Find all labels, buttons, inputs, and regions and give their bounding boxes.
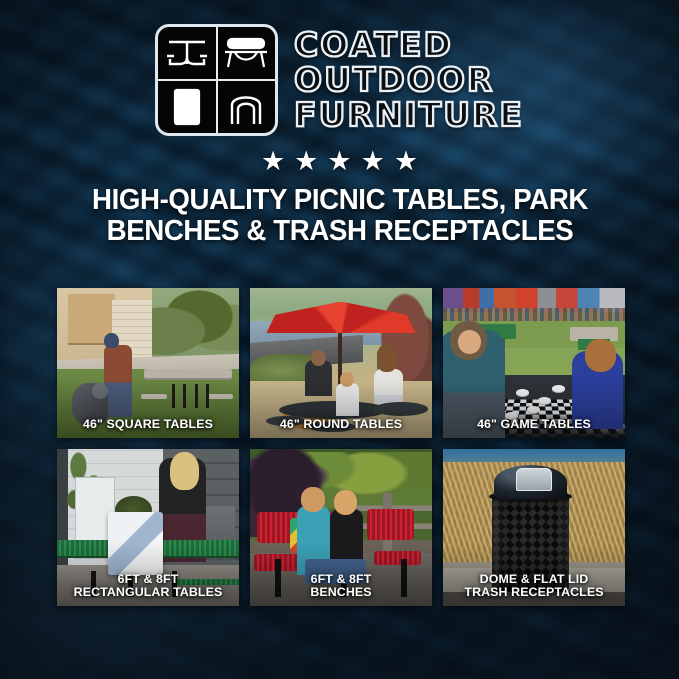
product-grid: 46" SQUARE TABLES 46" ROUND TABLES bbox=[57, 288, 625, 606]
product-tile-label: 46" SQUARE TABLES bbox=[61, 418, 235, 432]
brand-word-coated: COATED bbox=[294, 28, 524, 62]
product-label-line-2: TRASH RECEPTACLES bbox=[447, 586, 621, 600]
star-icon-3: ★ bbox=[327, 148, 351, 175]
product-label-line-1: 46" SQUARE TABLES bbox=[83, 417, 213, 431]
product-tile-game-tables[interactable]: 46" GAME TABLES bbox=[443, 288, 625, 438]
product-tile-square-tables[interactable]: 46" SQUARE TABLES bbox=[57, 288, 239, 438]
bike-rack-icon bbox=[217, 80, 276, 133]
brand-logo-mark bbox=[155, 24, 278, 136]
brand-logo: COATED OUTDOOR FURNITURE bbox=[0, 0, 679, 136]
product-tile-label: 46" ROUND TABLES bbox=[254, 418, 428, 432]
promo-banner: COATED OUTDOOR FURNITURE ★ ★ ★ ★ ★ HIGH-… bbox=[0, 0, 679, 679]
star-rating: ★ ★ ★ ★ ★ bbox=[0, 148, 679, 175]
product-label-line-1: 46" ROUND TABLES bbox=[280, 417, 402, 431]
product-label-line-1: 46" GAME TABLES bbox=[477, 417, 591, 431]
product-tile-label: 46" GAME TABLES bbox=[447, 418, 621, 432]
trash-receptacle-icon bbox=[158, 80, 217, 133]
product-tile-rectangular-tables[interactable]: 6FT & 8FT RECTANGULAR TABLES bbox=[57, 449, 239, 606]
product-tile-label: 6FT & 8FT RECTANGULAR TABLES bbox=[61, 573, 235, 600]
brand-wordmark: COATED OUTDOOR FURNITURE bbox=[294, 28, 524, 132]
product-label-line-2: RECTANGULAR TABLES bbox=[61, 586, 235, 600]
star-icon-4: ★ bbox=[361, 148, 385, 175]
product-label-line-1: DOME & FLAT LID bbox=[480, 572, 589, 586]
banner-header: COATED OUTDOOR FURNITURE ★ ★ ★ ★ ★ HIGH-… bbox=[0, 0, 679, 247]
star-icon-2: ★ bbox=[294, 148, 318, 175]
product-label-line-1: 6FT & 8FT bbox=[118, 572, 179, 586]
park-bench-icon bbox=[217, 27, 276, 80]
headline-line-1: HIGH-QUALITY PICNIC TABLES, PARK bbox=[92, 184, 588, 216]
star-icon-5: ★ bbox=[394, 148, 418, 175]
product-tile-trash-receptacles[interactable]: DOME & FLAT LID TRASH RECEPTACLES bbox=[443, 449, 625, 606]
headline: HIGH-QUALITY PICNIC TABLES, PARK BENCHES… bbox=[49, 185, 631, 247]
product-tile-benches[interactable]: 6FT & 8FT BENCHES bbox=[250, 449, 432, 606]
product-label-line-2: BENCHES bbox=[254, 586, 428, 600]
product-tile-label: DOME & FLAT LID TRASH RECEPTACLES bbox=[447, 573, 621, 600]
brand-word-furniture: FURNITURE bbox=[294, 98, 524, 132]
star-icon-1: ★ bbox=[261, 148, 285, 175]
headline-line-2: BENCHES & TRASH RECEPTACLES bbox=[49, 216, 631, 247]
product-tile-label: 6FT & 8FT BENCHES bbox=[254, 573, 428, 600]
product-tile-round-tables[interactable]: 46" ROUND TABLES bbox=[250, 288, 432, 438]
picnic-table-icon bbox=[158, 27, 217, 80]
product-label-line-1: 6FT & 8FT bbox=[311, 572, 372, 586]
brand-word-outdoor: OUTDOOR bbox=[294, 63, 524, 97]
